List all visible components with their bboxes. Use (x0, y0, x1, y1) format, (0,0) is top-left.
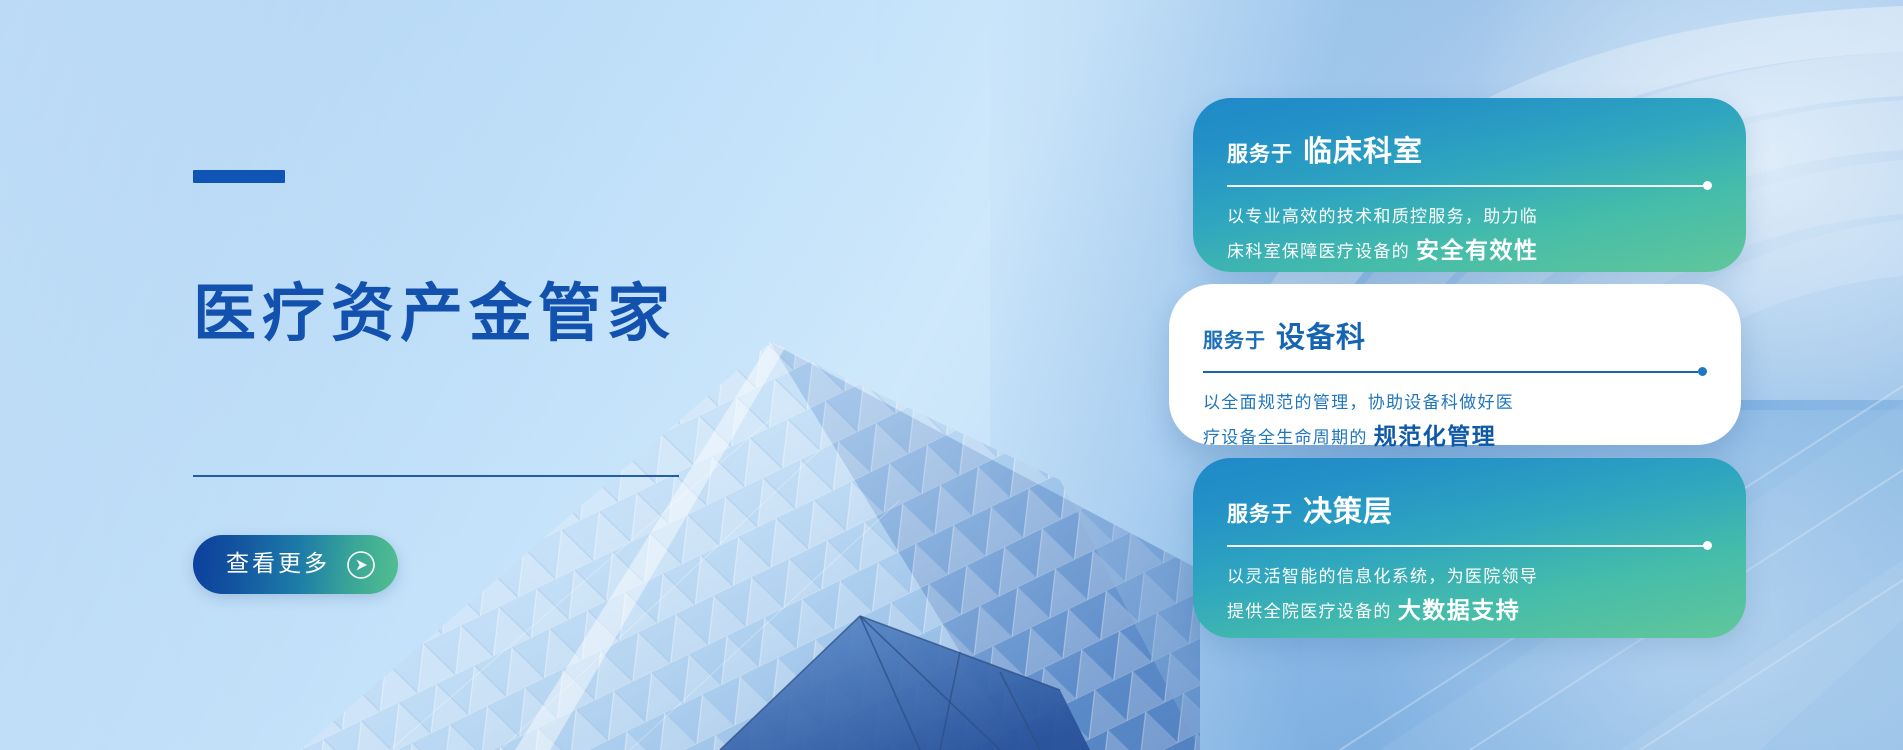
card-desc-line-2: 疗设备全生命周期的 (1203, 428, 1368, 448)
horizontal-divider (193, 475, 679, 477)
divider-dot-icon (1703, 181, 1712, 190)
divider-dot-icon (1698, 367, 1707, 376)
card-desc-line-1: 以灵活智能的信息化系统，为医院领导 (1227, 567, 1538, 587)
card-desc-line-2: 床科室保障医疗设备的 (1227, 242, 1410, 262)
service-card-clinical-department[interactable]: 服务于 临床科室 以专业高效的技术和质控服务，助力临 床科室保障医疗设备的安全有… (1193, 98, 1746, 272)
card-heading: 服务于 临床科室 (1227, 128, 1712, 170)
card-target: 临床科室 (1303, 128, 1423, 170)
card-target: 设备科 (1276, 314, 1366, 356)
card-divider (1203, 367, 1707, 376)
service-cards-list: 服务于 临床科室 以专业高效的技术和质控服务，助力临 床科室保障医疗设备的安全有… (1193, 0, 1753, 750)
card-divider (1227, 181, 1712, 190)
view-more-label: 查看更多 (226, 553, 330, 576)
view-more-button[interactable]: 查看更多 (193, 535, 398, 594)
card-prefix: 服务于 (1203, 324, 1266, 353)
card-prefix: 服务于 (1227, 498, 1293, 528)
divider-line (1227, 185, 1703, 187)
circle-arrow-right-icon (346, 550, 376, 580)
card-desc-line-2: 提供全院医疗设备的 (1227, 602, 1392, 622)
card-desc-line-1: 以专业高效的技术和质控服务，助力临 (1227, 207, 1538, 227)
card-divider (1227, 541, 1712, 550)
card-target: 决策层 (1303, 488, 1393, 530)
card-description: 以灵活智能的信息化系统，为医院领导 提供全院医疗设备的大数据支持 (1227, 563, 1712, 632)
hero-banner: 医疗资产金管家 查看更多 服务于 临床科室 以专业高效的技术 (0, 0, 1903, 750)
card-desc-line-1: 以全面规范的管理，协助设备科做好医 (1203, 393, 1514, 413)
card-emphasis: 规范化管理 (1374, 424, 1497, 450)
card-emphasis: 大数据支持 (1398, 598, 1521, 624)
divider-dot-icon (1703, 541, 1712, 550)
card-description: 以专业高效的技术和质控服务，助力临 床科室保障医疗设备的安全有效性 (1227, 203, 1712, 272)
card-description: 以全面规范的管理，协助设备科做好医 疗设备全生命周期的规范化管理 (1203, 389, 1707, 458)
service-card-decision-makers[interactable]: 服务于 决策层 以灵活智能的信息化系统，为医院领导 提供全院医疗设备的大数据支持 (1193, 458, 1746, 638)
page-title: 医疗资产金管家 (193, 282, 676, 345)
service-card-equipment-department[interactable]: 服务于 设备科 以全面规范的管理，协助设备科做好医 疗设备全生命周期的规范化管理 (1169, 284, 1741, 445)
card-heading: 服务于 设备科 (1203, 314, 1707, 356)
divider-line (1203, 371, 1698, 373)
divider-line (1227, 545, 1703, 547)
card-heading: 服务于 决策层 (1227, 488, 1712, 530)
accent-bar (193, 170, 285, 183)
card-emphasis: 安全有效性 (1416, 238, 1539, 264)
card-prefix: 服务于 (1227, 138, 1293, 168)
hero-left-column: 医疗资产金管家 查看更多 (193, 0, 713, 750)
